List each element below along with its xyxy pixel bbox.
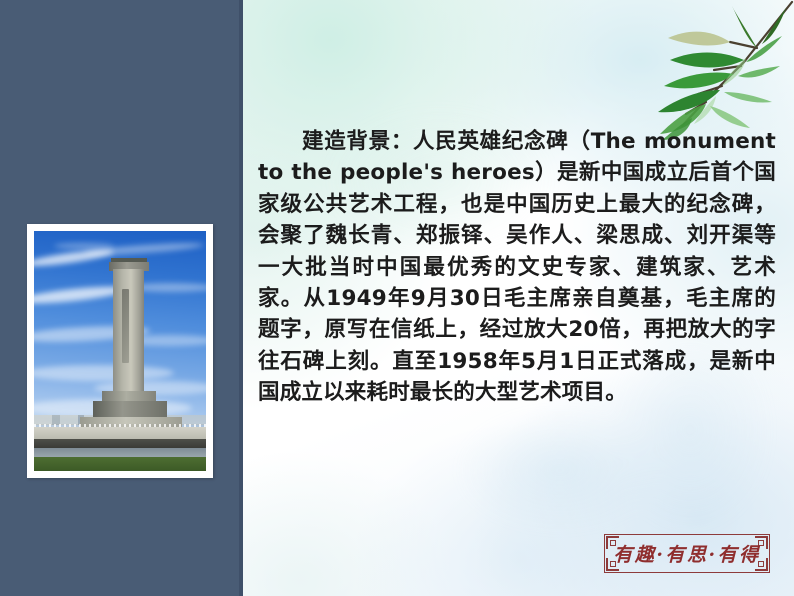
photo-cloud [54,243,114,249]
seal-stamp: 有趣·有思·有得 [604,534,770,573]
photo-road [34,448,206,457]
photo-wall [34,439,206,448]
monument-photo-image [34,231,206,471]
photo-grass [34,457,206,471]
slide-canvas: 建造背景：人民英雄纪念碑（The monument to the people'… [0,0,794,596]
body-paragraph: 建造背景：人民英雄纪念碑（The monument to the people'… [258,126,776,409]
monument-photo [27,224,213,478]
monument-inscription [122,289,129,363]
left-accent-panel-edge [239,0,243,596]
seal-text: 有趣·有思·有得 [604,534,770,573]
